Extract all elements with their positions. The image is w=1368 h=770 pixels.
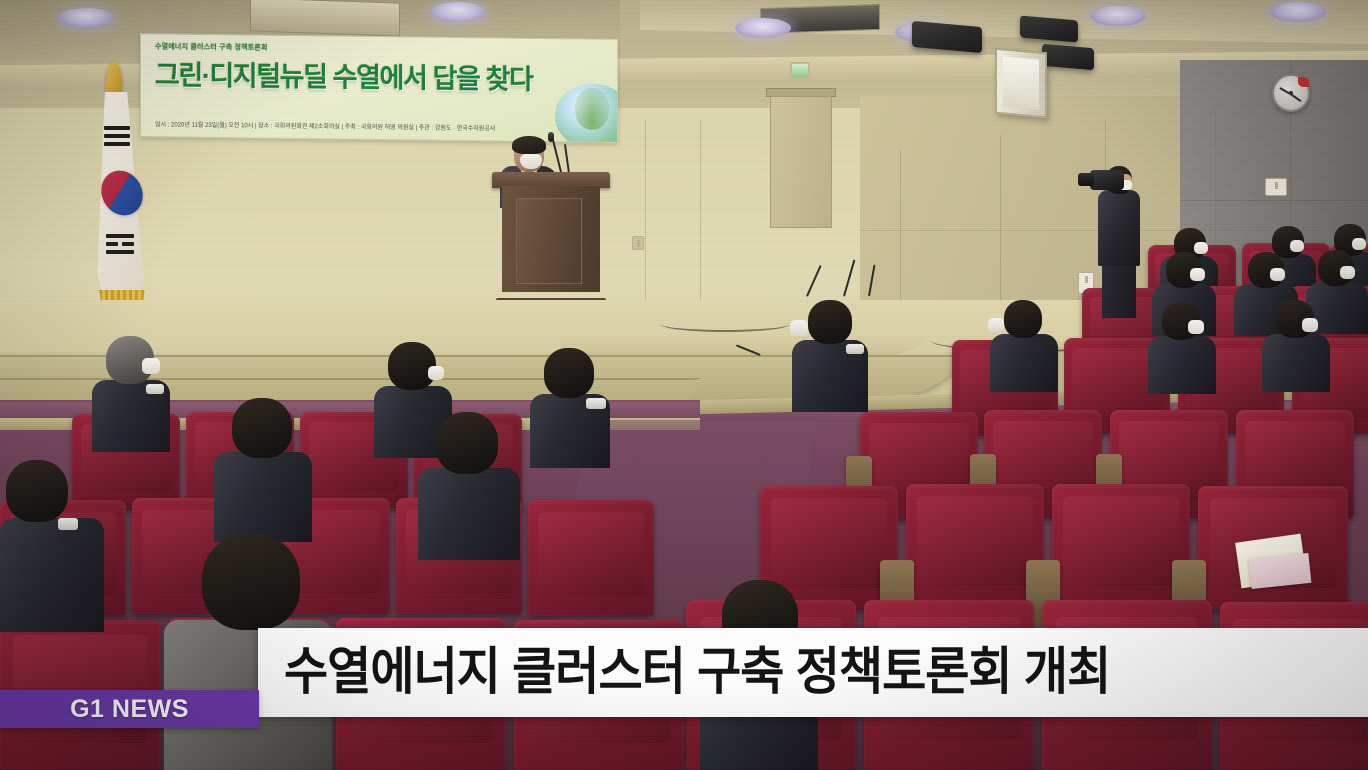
face-mask xyxy=(428,366,444,380)
auditorium-seat xyxy=(528,500,654,616)
seated-audience-member xyxy=(214,398,314,538)
audience-head xyxy=(436,412,498,474)
seated-audience-member xyxy=(0,460,110,630)
audience-head xyxy=(232,398,292,458)
audience-torso xyxy=(418,468,520,560)
audience-torso xyxy=(1262,334,1330,392)
audience-torso xyxy=(0,518,104,632)
broadcast-frame: 수열에너지 클러스터 구축 정책토론회 그린·디지털뉴딜 수열에서 답을 찾다 … xyxy=(0,0,1368,770)
clock-icon xyxy=(1272,74,1310,112)
auditorium-seat xyxy=(1052,484,1190,608)
seated-audience-member xyxy=(1148,302,1218,392)
exit-sign-icon xyxy=(790,62,810,79)
ceiling-downlight xyxy=(58,8,114,28)
flag-trigram xyxy=(104,134,130,138)
clock-hour-hand xyxy=(1291,94,1301,102)
flag-trigram xyxy=(104,126,130,130)
auditorium-door[interactable] xyxy=(770,96,832,228)
ceiling-downlight xyxy=(430,2,486,22)
flag-trigram xyxy=(122,242,134,246)
clock-accent xyxy=(1298,77,1309,87)
banner-main-line: 그린·디지털뉴딜 수열에서 답을 찾다 xyxy=(155,53,609,98)
face-mask xyxy=(1302,318,1318,332)
audience-torso xyxy=(990,334,1058,392)
audience-head xyxy=(1004,300,1042,338)
audience-head xyxy=(544,348,594,398)
audience-head xyxy=(6,460,68,522)
auditorium-seat xyxy=(906,484,1044,608)
microphone-head xyxy=(548,132,554,142)
stage-banner: 수열에너지 클러스터 구축 정책토론회 그린·디지털뉴딜 수열에서 답을 찾다 … xyxy=(140,33,618,143)
photographer-legs xyxy=(1102,264,1136,318)
face-mask xyxy=(988,318,1004,332)
ceiling-speaker xyxy=(1042,44,1094,71)
wall-seam xyxy=(1180,200,1368,201)
ceiling-downlight xyxy=(1270,2,1326,22)
seated-audience-member xyxy=(418,412,522,556)
shirt-collar xyxy=(146,384,164,394)
flag-trigram xyxy=(104,142,130,146)
ceiling-downlight xyxy=(1090,6,1146,26)
camera-lens xyxy=(1078,173,1094,186)
flag-trigram xyxy=(106,250,134,254)
press-photographer xyxy=(1088,160,1158,320)
camera-icon xyxy=(1090,170,1124,190)
seated-audience-member xyxy=(92,336,172,448)
banner-bottom-line: 일시 : 2020년 11월 23일(월) 오전 10시 | 장소 : 국회의원… xyxy=(155,119,609,134)
audience-head xyxy=(202,534,300,630)
face-mask xyxy=(790,320,808,336)
speaker-face-mask xyxy=(520,154,542,169)
handout-paper xyxy=(1249,553,1312,589)
ceiling-projector-housing xyxy=(250,0,400,37)
shirt-collar xyxy=(586,398,606,409)
seated-audience-member xyxy=(1262,300,1332,390)
podium-front-panel xyxy=(516,198,582,284)
flag-trigram xyxy=(106,242,118,246)
face-mask xyxy=(1190,268,1205,281)
page-title: 수열에너지 클러스터 구축 정책토론회 개최 xyxy=(258,647,1110,698)
seated-audience-member xyxy=(792,300,870,410)
lectern-podium xyxy=(498,172,604,302)
channel-brand-bar: G1 NEWS xyxy=(0,690,259,728)
face-mask xyxy=(1352,238,1366,250)
audience-head xyxy=(808,300,852,344)
flag-trigram xyxy=(106,234,134,238)
face-mask xyxy=(1270,268,1285,281)
wall-outlet xyxy=(1265,178,1287,196)
speaker-hair xyxy=(512,136,546,154)
ceiling-downlight xyxy=(735,18,791,38)
lower-third-headline-box: 수열에너지 클러스터 구축 정책토론회 개최 xyxy=(258,628,1368,717)
seated-audience-member xyxy=(990,300,1060,390)
channel-name: G1 NEWS xyxy=(70,695,189,724)
shirt-collar xyxy=(846,344,864,354)
shirt-collar xyxy=(58,518,78,530)
clock-center xyxy=(1289,91,1293,95)
wall-outlet xyxy=(632,236,644,250)
loudspeaker-icon xyxy=(995,48,1047,119)
seated-audience-member xyxy=(530,348,612,464)
face-mask xyxy=(1188,320,1204,334)
audience-torso xyxy=(214,452,312,542)
stage-cable xyxy=(660,316,790,332)
audience-torso xyxy=(1148,336,1216,394)
audience-head xyxy=(388,342,436,390)
face-mask xyxy=(142,358,160,374)
face-mask xyxy=(1340,266,1355,279)
photographer-torso xyxy=(1098,190,1140,266)
face-mask xyxy=(1290,240,1304,252)
